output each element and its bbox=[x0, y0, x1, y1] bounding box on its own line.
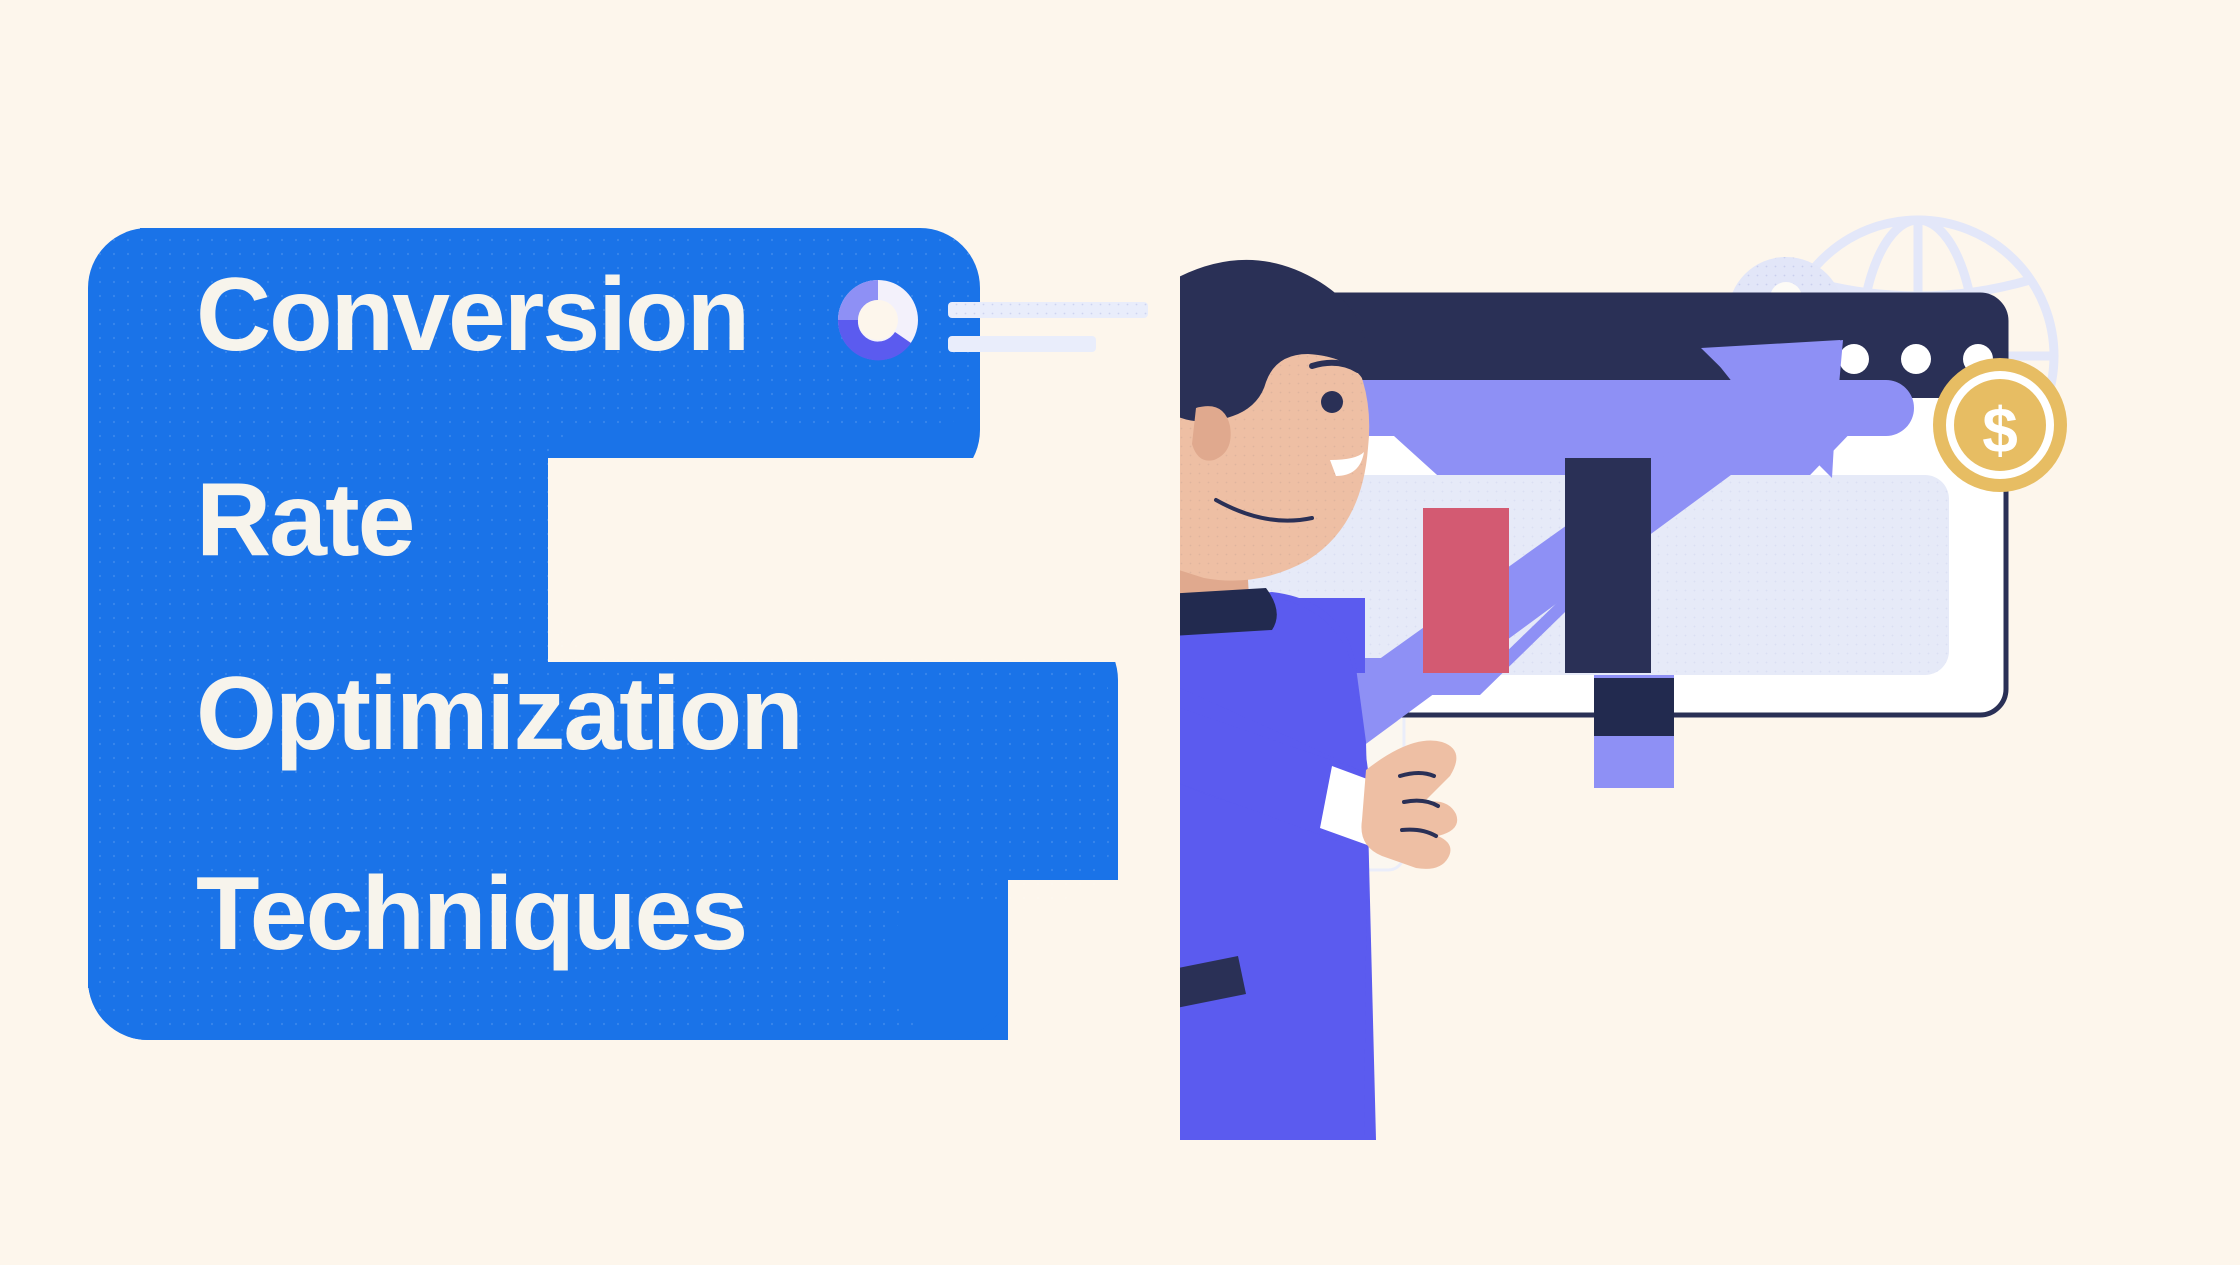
window-dot bbox=[1901, 344, 1931, 374]
poster-canvas: Conversion Rate Optimization Techniques bbox=[0, 0, 2240, 1260]
window-dot bbox=[1839, 344, 1869, 374]
panel-notch-cutout bbox=[548, 458, 1200, 662]
bar-2 bbox=[1423, 508, 1509, 673]
panel-bottom-right-step bbox=[1008, 880, 1200, 1060]
person-eye bbox=[1321, 391, 1343, 413]
donut-and-lines-group bbox=[820, 240, 1240, 400]
conversion-funnel-illustration: $ bbox=[1180, 130, 2180, 1140]
headline-blue-shape bbox=[0, 0, 1200, 1260]
headline-panel: Conversion Rate Optimization Techniques bbox=[0, 0, 1200, 1260]
skeleton-line bbox=[948, 336, 1096, 352]
donut-chart bbox=[838, 280, 918, 360]
dollar-coin: $ bbox=[1933, 358, 2067, 492]
bar-3 bbox=[1565, 458, 1651, 673]
person-collar bbox=[1180, 588, 1277, 638]
coin-symbol: $ bbox=[1982, 394, 2018, 466]
